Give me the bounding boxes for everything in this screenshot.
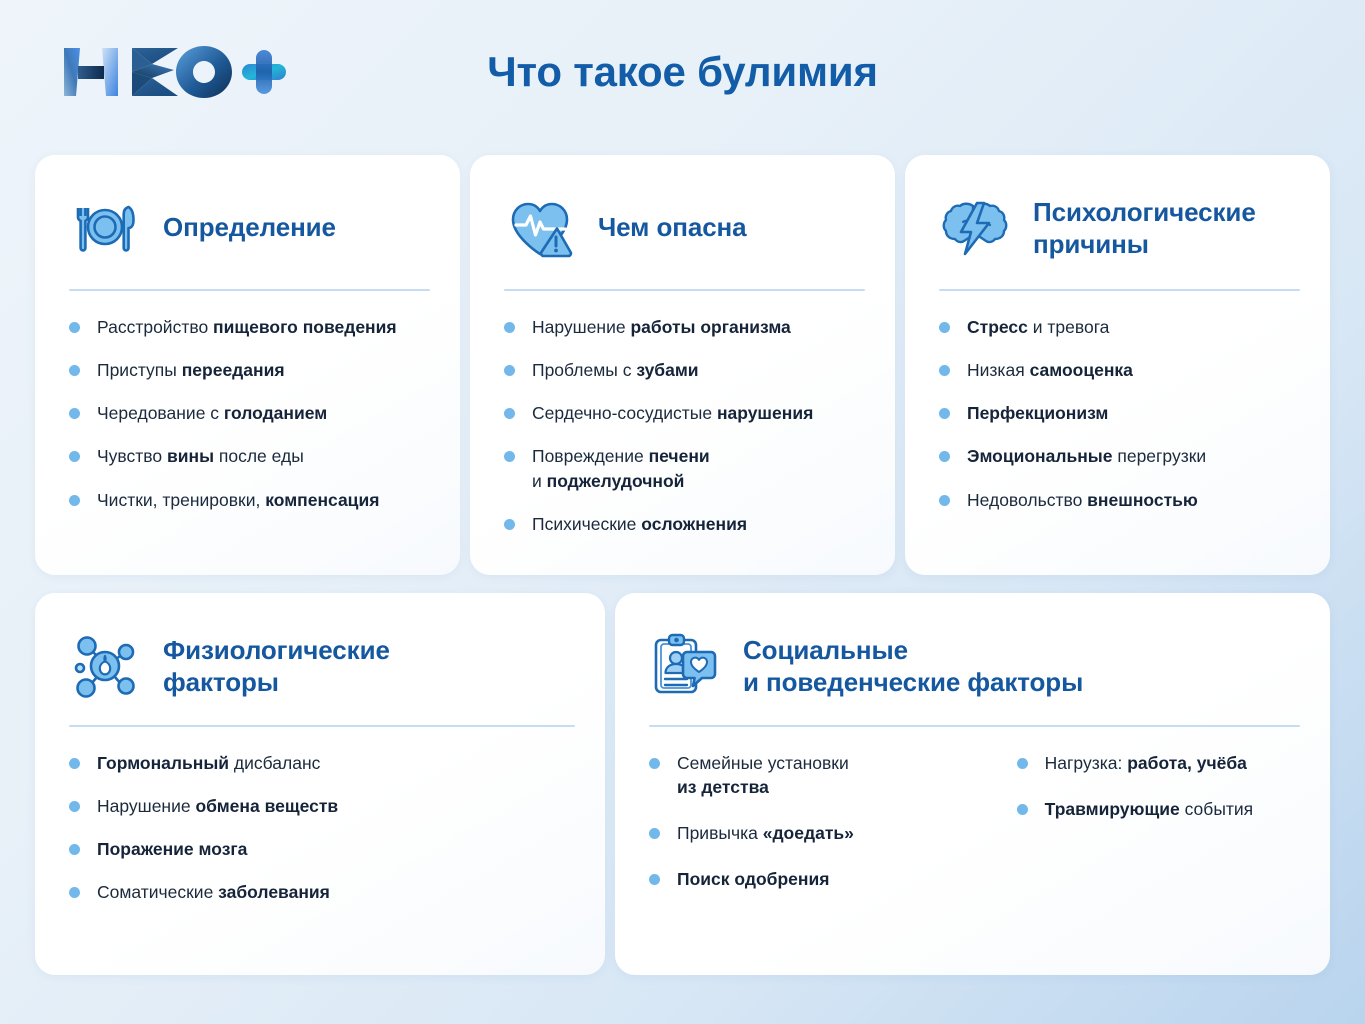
- card-header: Физиологическиефакторы: [69, 627, 575, 705]
- card-title: Социальныеи поведенческие факторы: [743, 634, 1083, 699]
- brain-lightning-icon: [939, 192, 1011, 264]
- bullet-item: Нагрузка: работа, учёба: [1017, 751, 1300, 775]
- bullet-dot-icon: [939, 365, 950, 376]
- bullet-item: Эмоциональные перегрузки: [939, 444, 1300, 468]
- bullet-item: Гормональный дисбаланс: [69, 751, 575, 775]
- heart-pulse-warning-icon: [504, 192, 576, 264]
- bullet-text: Травмирующие события: [1045, 799, 1254, 819]
- bullet-dot-icon: [69, 365, 80, 376]
- card-title: Психологическиепричины: [1033, 196, 1256, 261]
- bullet-item: Чувство вины после еды: [69, 444, 430, 468]
- bullet-dot-icon: [69, 801, 80, 812]
- bullet-text: Проблемы с зубами: [532, 360, 699, 380]
- bullet-text: Чувство вины после еды: [97, 446, 304, 466]
- bullet-dot-icon: [1017, 804, 1028, 815]
- card-title: Определение: [163, 212, 336, 243]
- bullet-dot-icon: [504, 322, 515, 333]
- clipboard-heart-chat-icon: [649, 630, 721, 702]
- bullet-dot-icon: [69, 451, 80, 462]
- bullet-item: Сердечно-сосудистые нарушения: [504, 401, 865, 425]
- bullet-dot-icon: [649, 758, 660, 769]
- bullet-item: Поиск одобрения: [649, 867, 961, 891]
- bullet-text: Поиск одобрения: [677, 869, 829, 889]
- bullet-item: Низкая самооценка: [939, 358, 1300, 382]
- card-header: Психологическиепричины: [939, 189, 1300, 267]
- bullet-item: Психические осложнения: [504, 512, 865, 536]
- bullet-text: Приступы переедания: [97, 360, 285, 380]
- bullet-dot-icon: [69, 322, 80, 333]
- bullet-text: Соматические заболевания: [97, 882, 330, 902]
- card-social: Социальныеи поведенческие факторы Семейн…: [615, 593, 1330, 975]
- bullet-dot-icon: [939, 322, 950, 333]
- card-definition: Определение Расстройство пищевого поведе…: [35, 155, 460, 575]
- card-divider: [649, 725, 1300, 727]
- bullet-dot-icon: [504, 365, 515, 376]
- bullet-item: Перфекционизм: [939, 401, 1300, 425]
- card-divider: [939, 289, 1300, 291]
- social-column-left: Семейные установкииз детстваПривычка «до…: [649, 751, 961, 914]
- bullet-item: Нарушение работы организма: [504, 315, 865, 339]
- bullet-item: Приступы переедания: [69, 358, 430, 382]
- bullet-text: Нарушение обмена веществ: [97, 796, 338, 816]
- bullet-item: Чистки, тренировки, компенсация: [69, 488, 430, 512]
- bullet-dot-icon: [69, 758, 80, 769]
- bullet-text: Чистки, тренировки, компенсация: [97, 490, 379, 510]
- bullet-dot-icon: [649, 874, 660, 885]
- bullet-dot-icon: [504, 408, 515, 419]
- bullet-dot-icon: [69, 495, 80, 506]
- bullet-text: Недовольство внешностью: [967, 490, 1198, 510]
- bullet-text: Низкая самооценка: [967, 360, 1133, 380]
- bullet-item: Соматические заболевания: [69, 880, 575, 904]
- bullet-dot-icon: [939, 451, 950, 462]
- molecule-hormone-icon: [69, 630, 141, 702]
- bullet-text: Расстройство пищевого поведения: [97, 317, 397, 337]
- bullet-text: Семейные установкииз детства: [677, 753, 849, 797]
- bullet-dot-icon: [504, 519, 515, 530]
- plate-fork-knife-icon: [69, 192, 141, 264]
- bullet-item: Привычка «доедать»: [649, 821, 961, 845]
- bullet-list: Семейные установкииз детстваПривычка «до…: [649, 751, 961, 892]
- bullet-text: Гормональный дисбаланс: [97, 753, 320, 773]
- bullet-dot-icon: [1017, 758, 1028, 769]
- bullet-list: Гормональный дисбалансНарушение обмена в…: [69, 751, 575, 905]
- card-title: Физиологическиефакторы: [163, 634, 390, 699]
- card-psych: Психологическиепричины Стресс и тревогаН…: [905, 155, 1330, 575]
- bullet-item: Недовольство внешностью: [939, 488, 1300, 512]
- card-divider: [69, 725, 575, 727]
- bullet-text: Привычка «доедать»: [677, 823, 854, 843]
- bullet-text: Стресс и тревога: [967, 317, 1109, 337]
- bullet-item: Расстройство пищевого поведения: [69, 315, 430, 339]
- bullet-item: Повреждение печении поджелудочной: [504, 444, 865, 492]
- bullet-item: Стресс и тревога: [939, 315, 1300, 339]
- bullet-text: Перфекционизм: [967, 403, 1108, 423]
- bullet-list: Нагрузка: работа, учёбаТравмирующие собы…: [1017, 751, 1300, 821]
- bullet-item: Нарушение обмена веществ: [69, 794, 575, 818]
- bullet-dot-icon: [69, 844, 80, 855]
- card-divider: [504, 289, 865, 291]
- bullet-text: Эмоциональные перегрузки: [967, 446, 1206, 466]
- bullet-dot-icon: [69, 887, 80, 898]
- page-title: Что такое булимия: [0, 48, 1365, 96]
- bullet-dot-icon: [939, 408, 950, 419]
- bullet-text: Повреждение печении поджелудочной: [532, 446, 710, 490]
- bullet-text: Психические осложнения: [532, 514, 747, 534]
- cards-board: Определение Расстройство пищевого поведе…: [35, 155, 1330, 985]
- social-columns: Семейные установкииз детстваПривычка «до…: [649, 751, 1300, 914]
- bullet-list: Стресс и тревогаНизкая самооценкаПерфекц…: [939, 315, 1300, 512]
- bullet-dot-icon: [649, 828, 660, 839]
- bullet-text: Нарушение работы организма: [532, 317, 791, 337]
- bullet-text: Поражение мозга: [97, 839, 247, 859]
- card-header: Чем опасна: [504, 189, 865, 267]
- bullet-dot-icon: [69, 408, 80, 419]
- bullet-text: Сердечно-сосудистые нарушения: [532, 403, 813, 423]
- card-header: Определение: [69, 189, 430, 267]
- bullet-text: Чередование с голоданием: [97, 403, 327, 423]
- card-danger: Чем опасна Нарушение работы организмаПро…: [470, 155, 895, 575]
- bullet-list: Расстройство пищевого поведенияПриступы …: [69, 315, 430, 512]
- bullet-dot-icon: [504, 451, 515, 462]
- bullet-item: Поражение мозга: [69, 837, 575, 861]
- bullet-item: Семейные установкииз детства: [649, 751, 961, 799]
- social-column-right: Нагрузка: работа, учёбаТравмирующие собы…: [1017, 751, 1300, 914]
- bullet-dot-icon: [939, 495, 950, 506]
- page-header: Что такое булимия: [0, 0, 1365, 150]
- bullet-item: Травмирующие события: [1017, 797, 1300, 821]
- card-header: Социальныеи поведенческие факторы: [649, 627, 1300, 705]
- card-physio: Физиологическиефакторы Гормональный дисб…: [35, 593, 605, 975]
- bullet-item: Чередование с голоданием: [69, 401, 430, 425]
- bullet-list: Нарушение работы организмаПроблемы с зуб…: [504, 315, 865, 536]
- card-divider: [69, 289, 430, 291]
- bullet-text: Нагрузка: работа, учёба: [1045, 753, 1247, 773]
- card-title: Чем опасна: [598, 212, 747, 243]
- bullet-item: Проблемы с зубами: [504, 358, 865, 382]
